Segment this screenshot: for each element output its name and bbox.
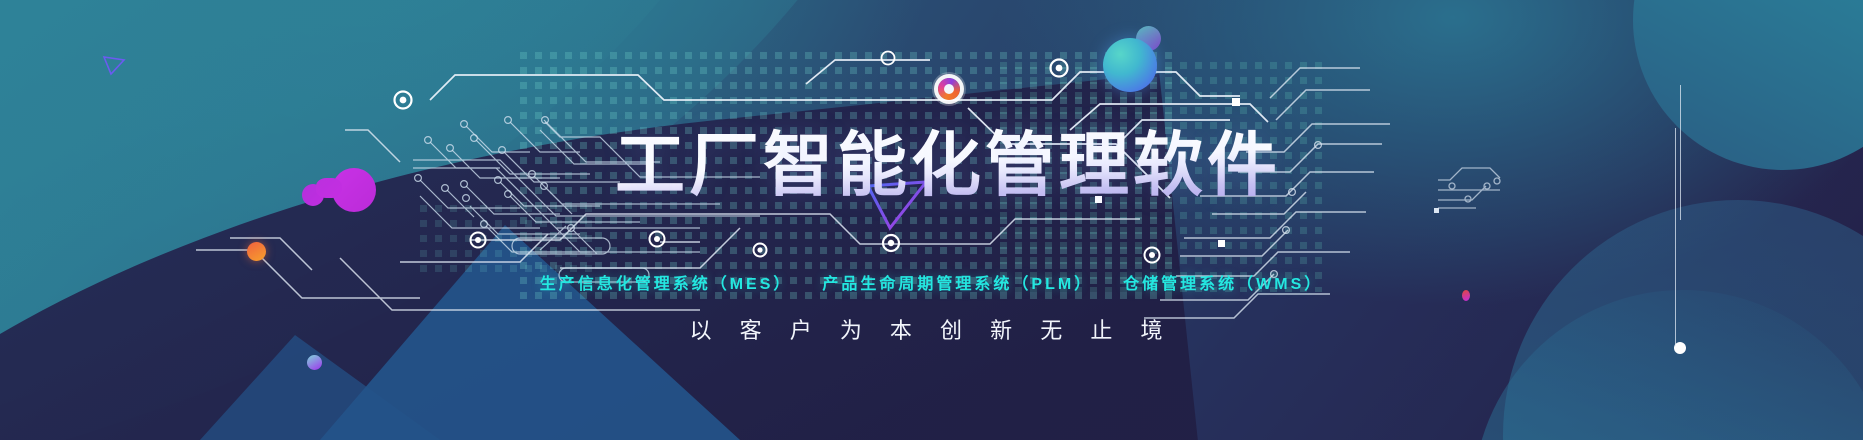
- magenta-blob: [332, 168, 376, 212]
- pink-dot-small: [1462, 290, 1470, 301]
- gradient-sphere: [1103, 38, 1157, 92]
- tagline: 以 客 户 为 本 创 新 无 止 境: [0, 313, 1863, 345]
- top-right-circle: [1633, 0, 1863, 170]
- hero-banner: 工厂智能化管理软件 生产信息化管理系统（MES） 产品生命周期管理系统（PLM）…: [0, 0, 1863, 440]
- triangle-outline-small-icon: [103, 55, 123, 73]
- circuit-node-ring-icon: [938, 78, 960, 100]
- page-title: 工厂智能化管理软件: [615, 128, 1281, 202]
- dot-matrix-lower-left: [420, 205, 600, 275]
- orange-dot: [247, 242, 266, 261]
- vertical-line-short: [1680, 85, 1681, 220]
- purple-dot: [307, 355, 322, 370]
